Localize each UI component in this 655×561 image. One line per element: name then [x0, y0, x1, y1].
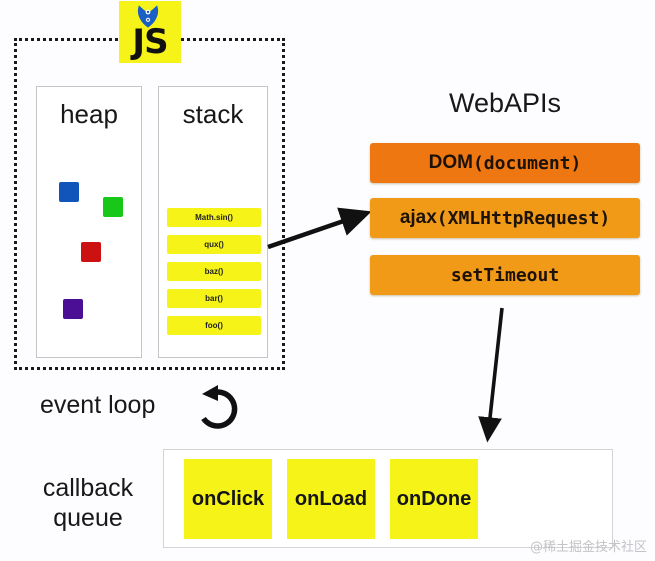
callback-queue-label-line2: queue	[18, 503, 158, 533]
stack-frame-label: foo()	[205, 321, 223, 330]
callback-queue-item-label: onDone	[397, 488, 471, 511]
stack-frame: bar()	[167, 289, 261, 308]
callback-queue-item: onLoad	[287, 459, 375, 539]
heap-panel: heap	[36, 86, 142, 358]
heap-object-green	[103, 197, 123, 217]
ajax-api-box: ajax (XMLHttpRequest)	[370, 198, 640, 238]
webapi-label-mono: (XMLHttpRequest)	[437, 208, 610, 229]
settimeout-api-box: setTimeout	[370, 255, 640, 295]
callback-queue-container: onClickonLoadonDone	[163, 449, 613, 548]
js-logo-badge: JS	[119, 1, 181, 63]
stack-frame-label: bar()	[205, 294, 223, 303]
event-loop-label: event loop	[40, 391, 155, 420]
circular-arrow-icon	[192, 385, 242, 435]
callback-queue-label-line1: callback	[18, 473, 158, 503]
heap-title: heap	[37, 99, 141, 130]
js-badge-label: JS	[119, 23, 181, 61]
heap-object-purple	[63, 299, 83, 319]
stack-frame: baz()	[167, 262, 261, 281]
callback-queue-item-label: onLoad	[295, 488, 367, 511]
stack-frame: qux()	[167, 235, 261, 254]
stack-title: stack	[159, 99, 267, 130]
event-loop-diagram: JS heap stack Math.sin()qux()baz()bar()f…	[0, 0, 655, 561]
callback-queue-label: callback queue	[18, 473, 158, 533]
stack-frame-label: baz()	[205, 267, 224, 276]
stack-frame: Math.sin()	[167, 208, 261, 227]
heap-object-red	[81, 242, 101, 262]
webapi-label-mono: (document)	[473, 153, 581, 174]
stack-panel: stack Math.sin()qux()baz()bar()foo()	[158, 86, 268, 358]
heap-object-blue	[59, 182, 79, 202]
watermark: @稀土掘金技术社区	[530, 536, 647, 555]
stack-frame-label: qux()	[204, 240, 224, 249]
callback-queue-item: onClick	[184, 459, 272, 539]
stack-frame: foo()	[167, 316, 261, 335]
webapi-label-plain: ajax	[400, 207, 437, 229]
callback-queue-item: onDone	[390, 459, 478, 539]
webapis-to-queue-arrow	[488, 308, 502, 436]
dom-api-box: DOM (document)	[370, 143, 640, 183]
webapi-label-mono: setTimeout	[451, 265, 559, 286]
webapi-label-plain: DOM	[429, 152, 473, 174]
callback-queue-item-label: onClick	[192, 488, 264, 511]
webapis-title: WebAPIs	[380, 88, 630, 119]
stack-frame-label: Math.sin()	[195, 213, 233, 222]
